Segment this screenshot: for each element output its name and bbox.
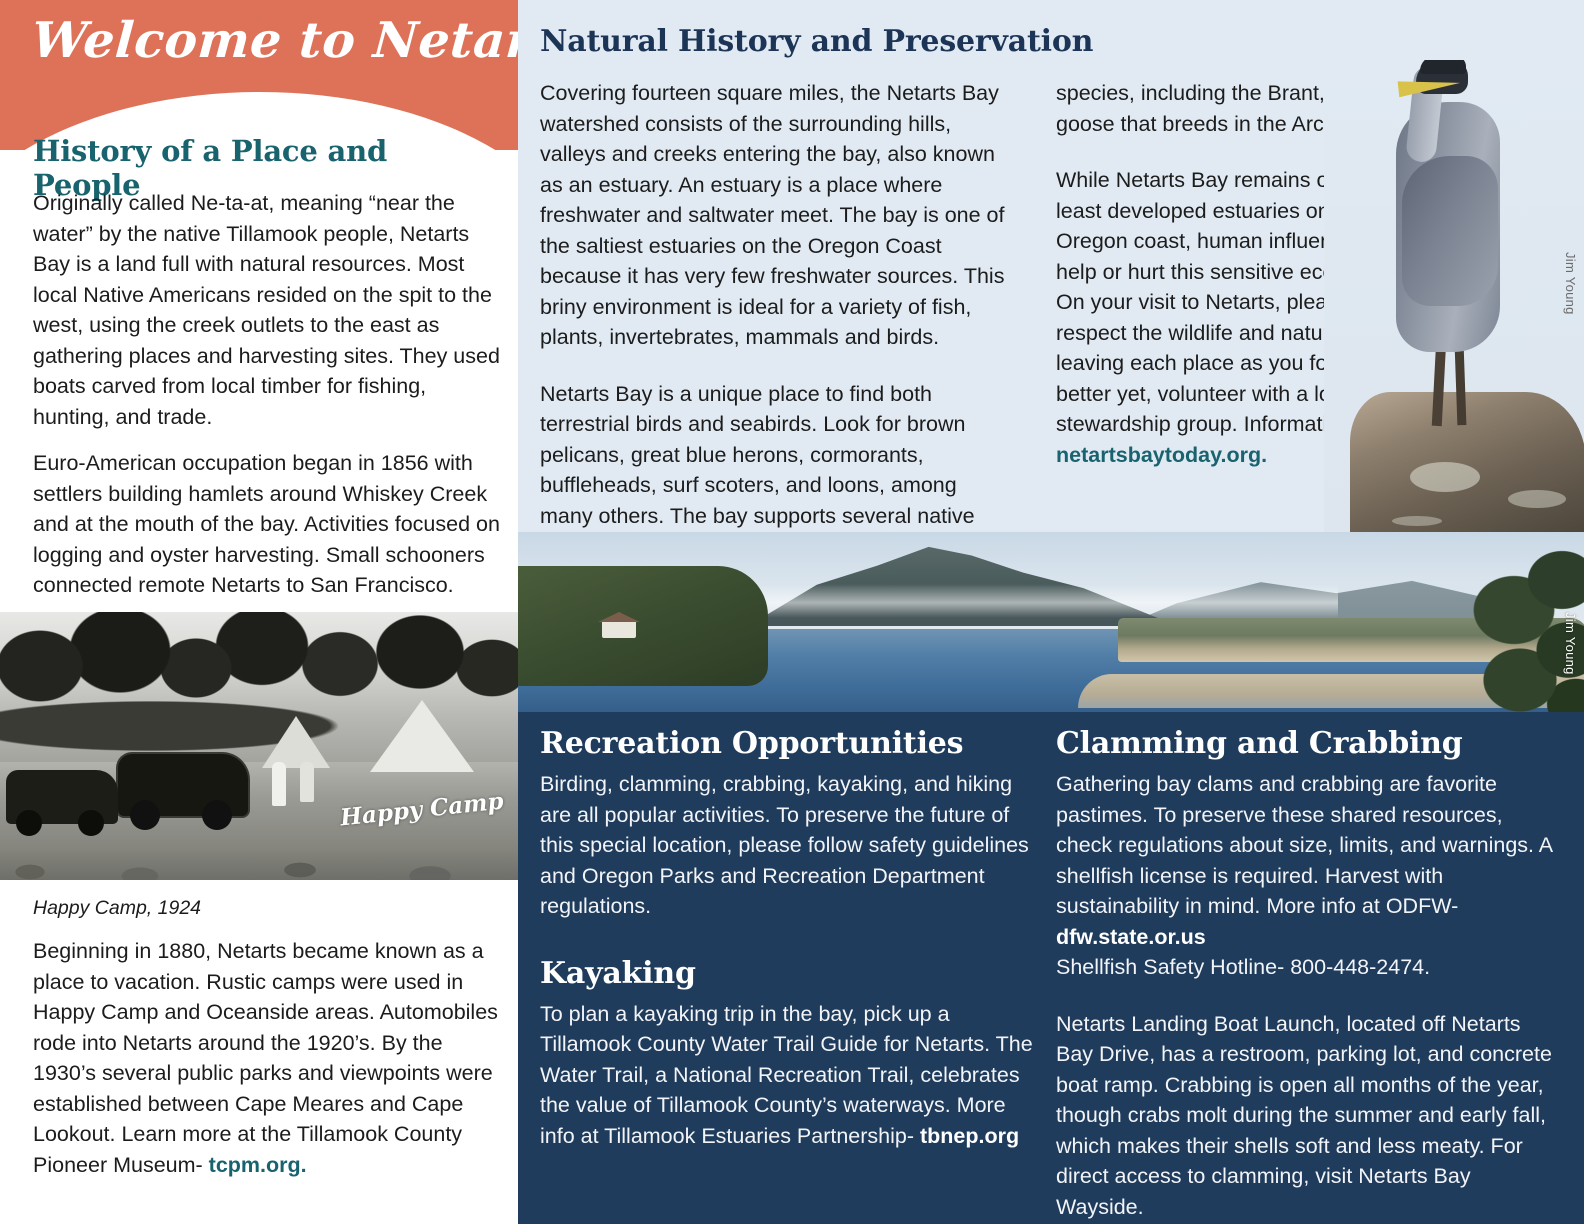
natural-paragraph-1: Covering fourteen square miles, the Neta… [540,78,1010,353]
history-paragraph-2: Euro-American occupation began in 1856 w… [33,448,511,601]
navy-information-panel: Recreation Opportunities Birding, clammi… [518,712,1584,1224]
rock-lichen [1410,462,1480,492]
left-column: Welcome to Netarts! History of a Place a… [0,0,518,1224]
clamming-paragraph-1-text: Gathering bay clams and crabbing are fav… [1056,772,1552,918]
heron-rock [1350,392,1584,532]
natural-paragraph-2: Netarts Bay is a unique place to find bo… [540,379,1010,533]
heron-wing [1402,156,1498,306]
interpretive-panel: Welcome to Netarts! History of a Place a… [0,0,1584,1224]
natural-history-heading-text: Natural History and Preservation [540,24,1093,59]
panorama-left-headland [518,566,768,686]
history-paragraph-3-text: Beginning in 1880, Netarts became known … [33,939,498,1177]
great-blue-heron-photo [1324,60,1584,532]
heron-crown [1420,60,1466,74]
photo-brush [0,820,518,880]
history-paragraph-1: Originally called Ne-ta-at, meaning “nea… [33,188,503,432]
kayaking-paragraph: To plan a kayaking trip in the bay, pick… [540,999,1040,1152]
recreation-heading: Recreation Opportunities [540,726,1040,761]
shellfish-hotline-line: Shellfish Safety Hotline- 800-448-2474. [1056,952,1556,983]
photo-automobile-rear [6,770,118,824]
clamming-column: Clamming and Crabbing Gathering bay clam… [1056,726,1556,1222]
recreation-column: Recreation Opportunities Birding, clammi… [540,726,1040,1151]
photo-person-b [300,762,314,802]
happy-camp-historic-photo: Happy Camp [0,612,518,880]
netartsbaytoday-link[interactable]: netartsbaytoday.org. [1056,443,1267,467]
natural-history-panel: Natural History and Preservation Coverin… [518,0,1584,532]
history-paragraph-3: Beginning in 1880, Netarts became known … [33,936,503,1180]
panorama-house [602,620,636,638]
clamming-paragraph-2: Netarts Landing Boat Launch, located off… [1056,1009,1556,1223]
netarts-bay-panorama-photo [518,532,1584,712]
clamming-paragraph-1: Gathering bay clams and crabbing are fav… [1056,769,1556,952]
natural-history-column-1: Covering fourteen square miles, the Neta… [540,78,1010,532]
tbnep-link[interactable]: tbnep.org [920,1124,1019,1148]
photo-tent-small [262,716,330,768]
recreation-paragraph: Birding, clamming, crabbing, kayaking, a… [540,769,1040,922]
photo-caption: Happy Camp, 1924 [33,897,201,920]
clamming-heading: Clamming and Crabbing [1056,726,1556,761]
panorama-foreground-trees [1394,540,1584,712]
photo-automobile-front [118,754,248,816]
heron-photo-credit: Jim Young [1563,252,1578,315]
natural-history-heading: Natural History and Preservation [540,24,1093,59]
dfw-link[interactable]: dfw.state.or.us [1056,925,1206,949]
photo-person-a [272,762,286,806]
panorama-photo-credit: Jim Young [1563,612,1578,675]
kayaking-heading: Kayaking [540,956,1040,991]
tcpm-link[interactable]: tcpm.org. [209,1153,307,1177]
welcome-title: Welcome to Netarts! [30,14,518,68]
photo-tent-large [370,700,474,772]
